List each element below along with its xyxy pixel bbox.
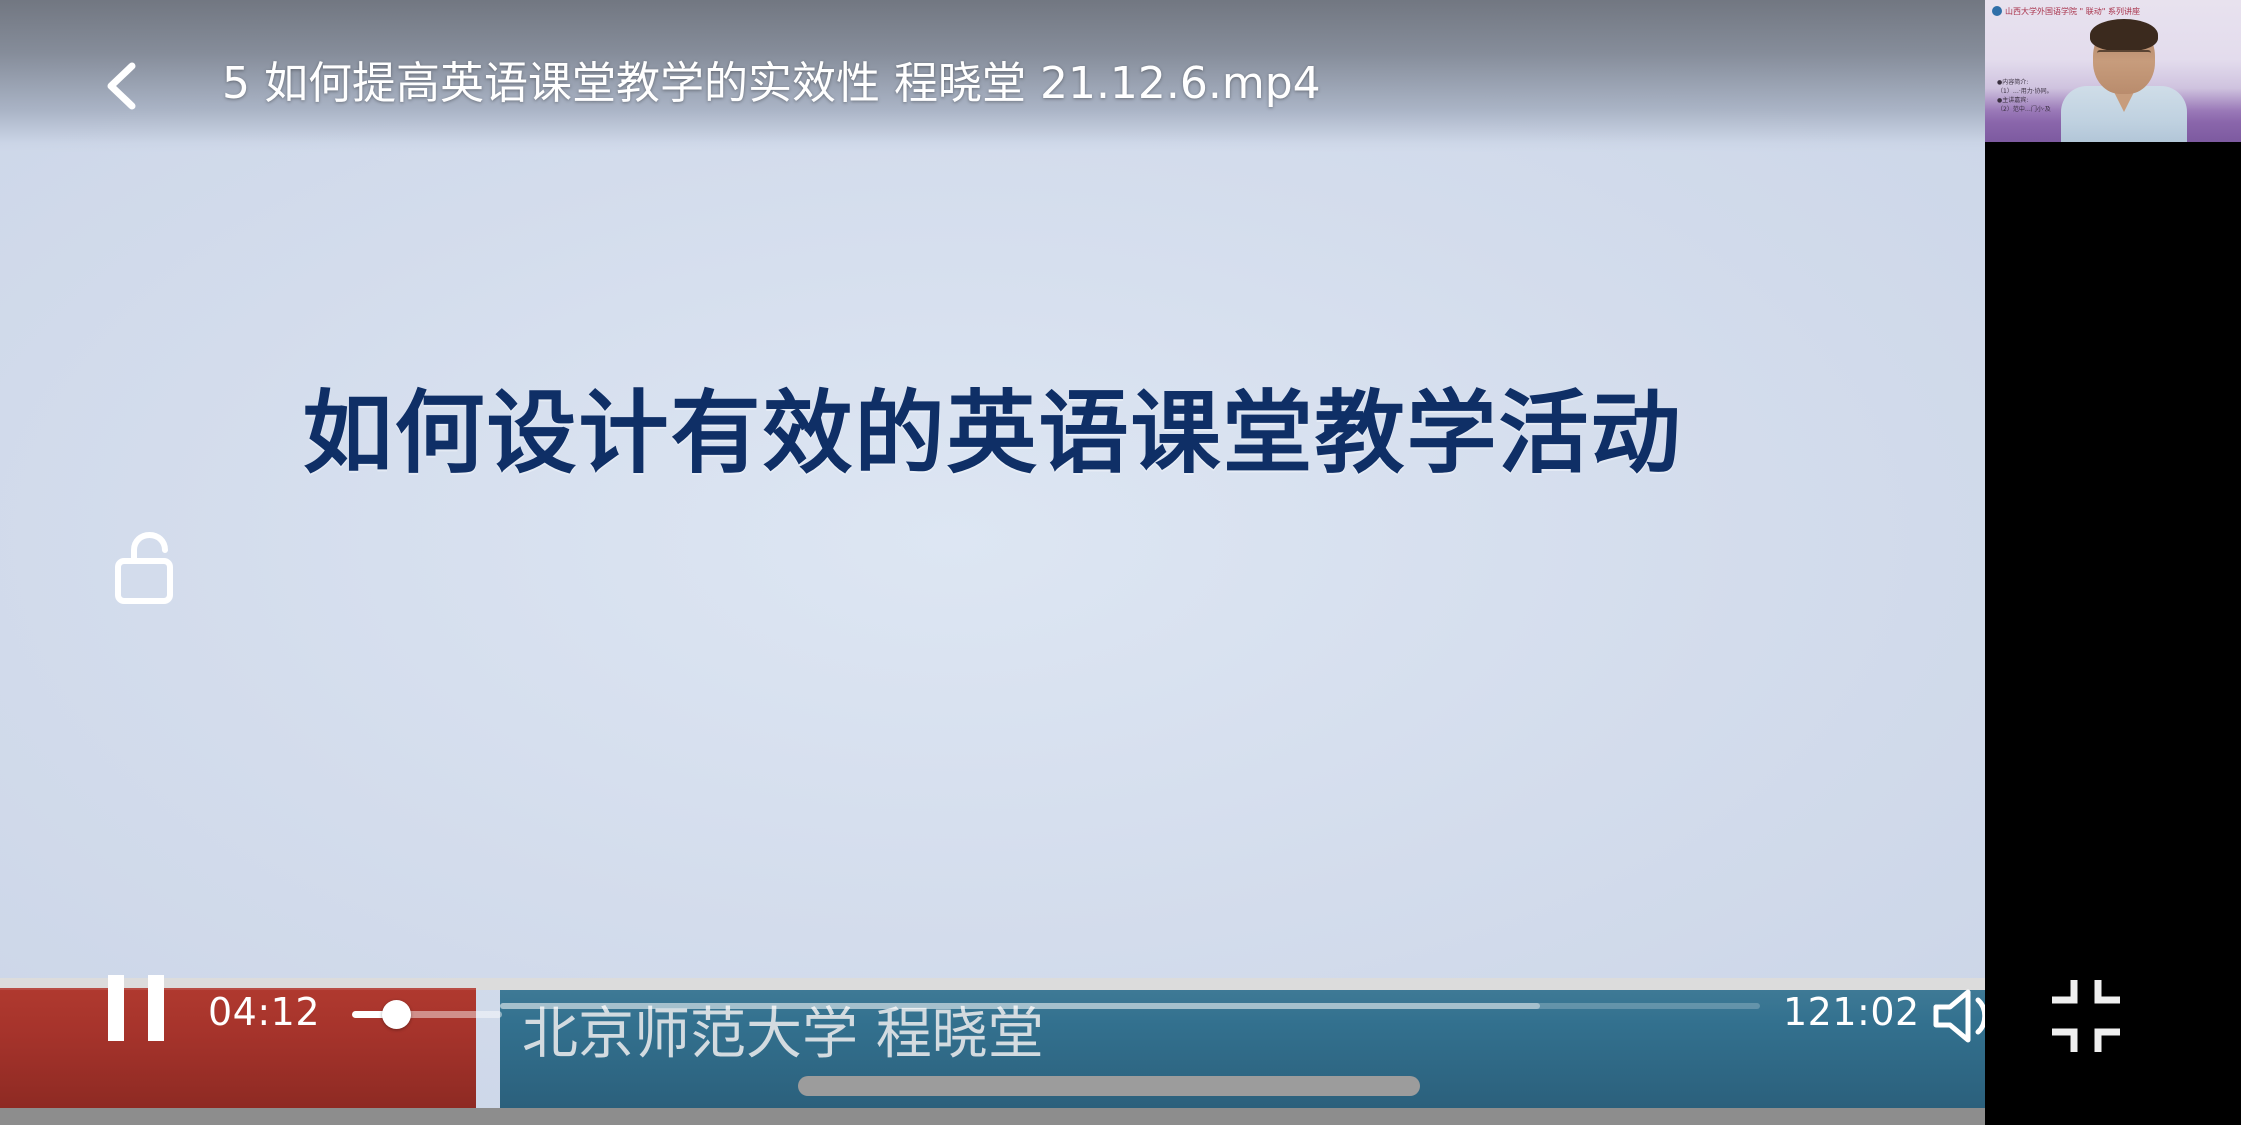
slide-title: 如何设计有效的英语课堂教学活动	[0, 360, 1985, 490]
volume-on-icon[interactable]	[1930, 986, 1985, 1046]
pause-icon[interactable]	[108, 975, 164, 1041]
right-rail	[1985, 0, 2241, 1125]
seek-bar[interactable]	[500, 1003, 1760, 1009]
current-time-label: 04:12	[208, 988, 320, 1036]
video-player-page: 如何设计有效的英语课堂教学活动 北京师范大学 程晓堂 04:12	[0, 0, 2241, 1125]
pip-speaker-hair	[2090, 19, 2158, 51]
seek-bar-fill	[500, 1003, 1540, 1009]
horizontal-scrollbar[interactable]	[798, 1076, 1420, 1096]
pip-camera-feed[interactable]: 山西大学外国语学院 " 联动" 系列讲座 ●内容简介: （1）…·用力·协同。 …	[1985, 0, 2241, 142]
slide-footer-text: 北京师范大学 程晓堂	[522, 998, 1044, 1072]
playback-slider-thumb[interactable]	[382, 1000, 411, 1029]
pip-side-text: ●内容简介: （1）…·用力·协同。 ●主讲嘉宾: （2）范中…门小·及	[1997, 78, 2053, 114]
bottom-strip	[0, 1108, 1985, 1125]
pip-university-logo-icon	[1992, 6, 2002, 16]
video-title: 5 如何提高英语课堂教学的实效性 程晓堂 21.12.6.mp4	[222, 55, 1321, 113]
pause-bar-left	[108, 975, 124, 1041]
pause-bar-right	[148, 975, 164, 1041]
pip-speaker-glasses	[2097, 50, 2151, 63]
exit-fullscreen-icon[interactable]	[2044, 974, 2128, 1058]
pip-banner-label: 山西大学外国语学院 " 联动" 系列讲座	[2005, 7, 2140, 16]
playback-slider-track-rest	[396, 1011, 502, 1018]
pip-banner-text: 山西大学外国语学院 " 联动" 系列讲座	[1992, 6, 2237, 17]
slide-background	[0, 0, 1985, 1125]
chevron-left-icon[interactable]	[96, 58, 152, 114]
playback-slider[interactable]	[352, 1000, 502, 1028]
total-time-label: 121:02	[1783, 988, 1920, 1036]
video-stage[interactable]: 如何设计有效的英语课堂教学活动 北京师范大学 程晓堂 04:12	[0, 0, 1985, 1125]
unlock-icon[interactable]	[112, 528, 184, 608]
